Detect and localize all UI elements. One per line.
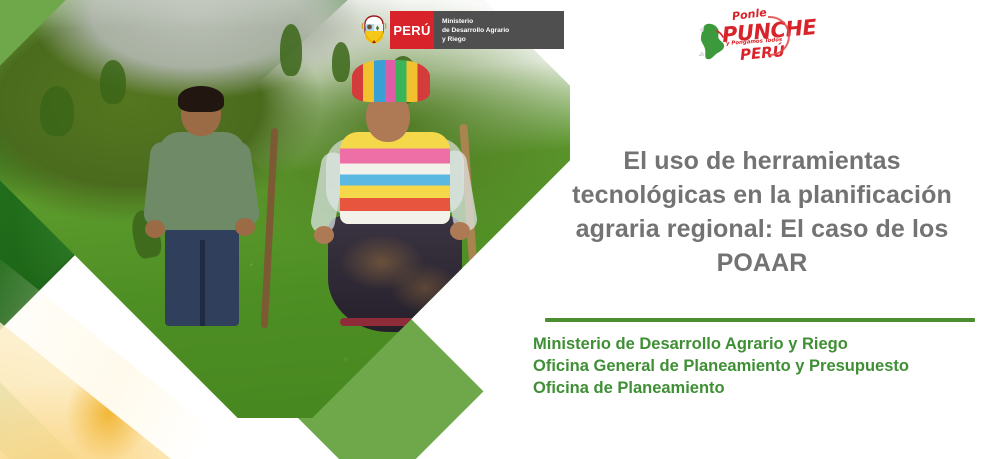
subtitle-line-3: Oficina de Planeamiento bbox=[533, 377, 993, 399]
presentation-slide: PERÚ Ministerio de Desarrollo Agrario y … bbox=[0, 0, 1000, 459]
ponle-punche-peru-logo: Ponle PUNCHE y Pongamos Todos PERÚ bbox=[696, 6, 792, 64]
ministry-name-block: Ministerio de Desarrollo Agrario y Riego bbox=[434, 11, 564, 49]
hand bbox=[145, 220, 165, 238]
hand bbox=[314, 226, 334, 244]
page-title: El uso de herramientas tecnológicas en l… bbox=[540, 144, 984, 280]
organization-subtitle: Ministerio de Desarrollo Agrario y Riego… bbox=[533, 333, 993, 399]
green-sweater bbox=[158, 132, 246, 230]
hand bbox=[235, 218, 255, 236]
ministry-line-2: de Desarrollo Agrario bbox=[442, 26, 509, 35]
hand bbox=[450, 222, 470, 240]
subtitle-line-1: Ministerio de Desarrollo Agrario y Riego bbox=[533, 333, 993, 355]
title-line-2: tecnológicas en la planificación bbox=[540, 178, 984, 212]
tree-icon bbox=[280, 24, 302, 76]
title-line-4: POAAR bbox=[540, 246, 984, 280]
hair bbox=[178, 86, 224, 112]
peru-government-logo: PERÚ Ministerio de Desarrollo Agrario y … bbox=[358, 11, 564, 49]
traditional-montera-hat bbox=[352, 60, 430, 102]
title-line-1: El uso de herramientas bbox=[540, 144, 984, 178]
tree-icon bbox=[100, 60, 126, 104]
title-divider-rule bbox=[545, 318, 975, 322]
tree-icon bbox=[40, 86, 74, 136]
title-line-3: agraria regional: El caso de los bbox=[540, 212, 984, 246]
leg-seam bbox=[200, 240, 205, 326]
peru-wordmark-text: PERÚ bbox=[393, 23, 430, 38]
farmer-man-figure bbox=[145, 90, 260, 325]
peru-wordmark-block: PERÚ bbox=[390, 11, 434, 49]
coat-of-arms-icon bbox=[358, 11, 390, 49]
embroidered-blouse bbox=[340, 132, 450, 224]
ministry-line-1: Ministerio bbox=[442, 17, 509, 26]
subtitle-line-2: Oficina General de Planeamiento y Presup… bbox=[533, 355, 993, 377]
ministry-line-3: y Riego bbox=[442, 35, 509, 44]
